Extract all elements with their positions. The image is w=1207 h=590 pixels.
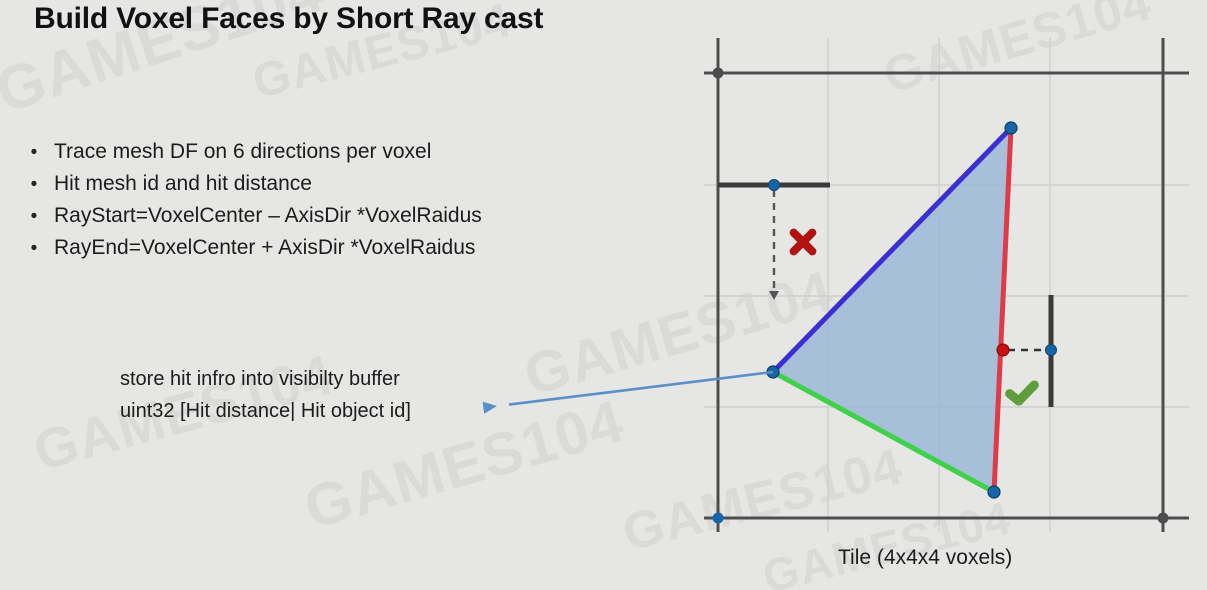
leader-line	[509, 372, 773, 405]
bullet-item: •Hit mesh id and hit distance	[14, 168, 482, 200]
bullet-list: •Trace mesh DF on 6 directions per voxel…	[14, 136, 482, 264]
bullet-text: RayEnd=VoxelCenter + AxisDir *VoxelRaidu…	[54, 232, 475, 264]
bullet-marker-icon: •	[14, 137, 54, 169]
page-title: Build Voxel Faces by Short Ray cast	[34, 2, 543, 36]
bullet-marker-icon: •	[14, 169, 54, 201]
bullet-item: •Trace mesh DF on 6 directions per voxel	[14, 136, 482, 168]
bullet-item: •RayEnd=VoxelCenter + AxisDir *VoxelRaid…	[14, 232, 482, 264]
diagram-caption: Tile (4x4x4 voxels)	[838, 546, 1012, 570]
bullet-text: Hit mesh id and hit distance	[54, 168, 312, 200]
bullet-marker-icon: •	[14, 233, 54, 265]
note-leader-layer	[0, 0, 1207, 590]
note-line-2: uint32 [Hit distance| Hit object id]	[120, 395, 411, 427]
note-line-1: store hit infro into visibilty buffer	[120, 363, 411, 395]
bullet-item: •RayStart=VoxelCenter – AxisDir *VoxelRa…	[14, 200, 482, 232]
leader-arrowhead	[483, 402, 497, 414]
slide-root: GAMES104GAMES104GAMES104GAMES104GAMES104…	[0, 0, 1207, 590]
bullet-text: Trace mesh DF on 6 directions per voxel	[54, 136, 431, 168]
bullet-text: RayStart=VoxelCenter – AxisDir *VoxelRai…	[54, 200, 482, 232]
bullet-marker-icon: •	[14, 201, 54, 233]
visibility-buffer-note: store hit infro into visibilty buffer ui…	[120, 363, 411, 427]
